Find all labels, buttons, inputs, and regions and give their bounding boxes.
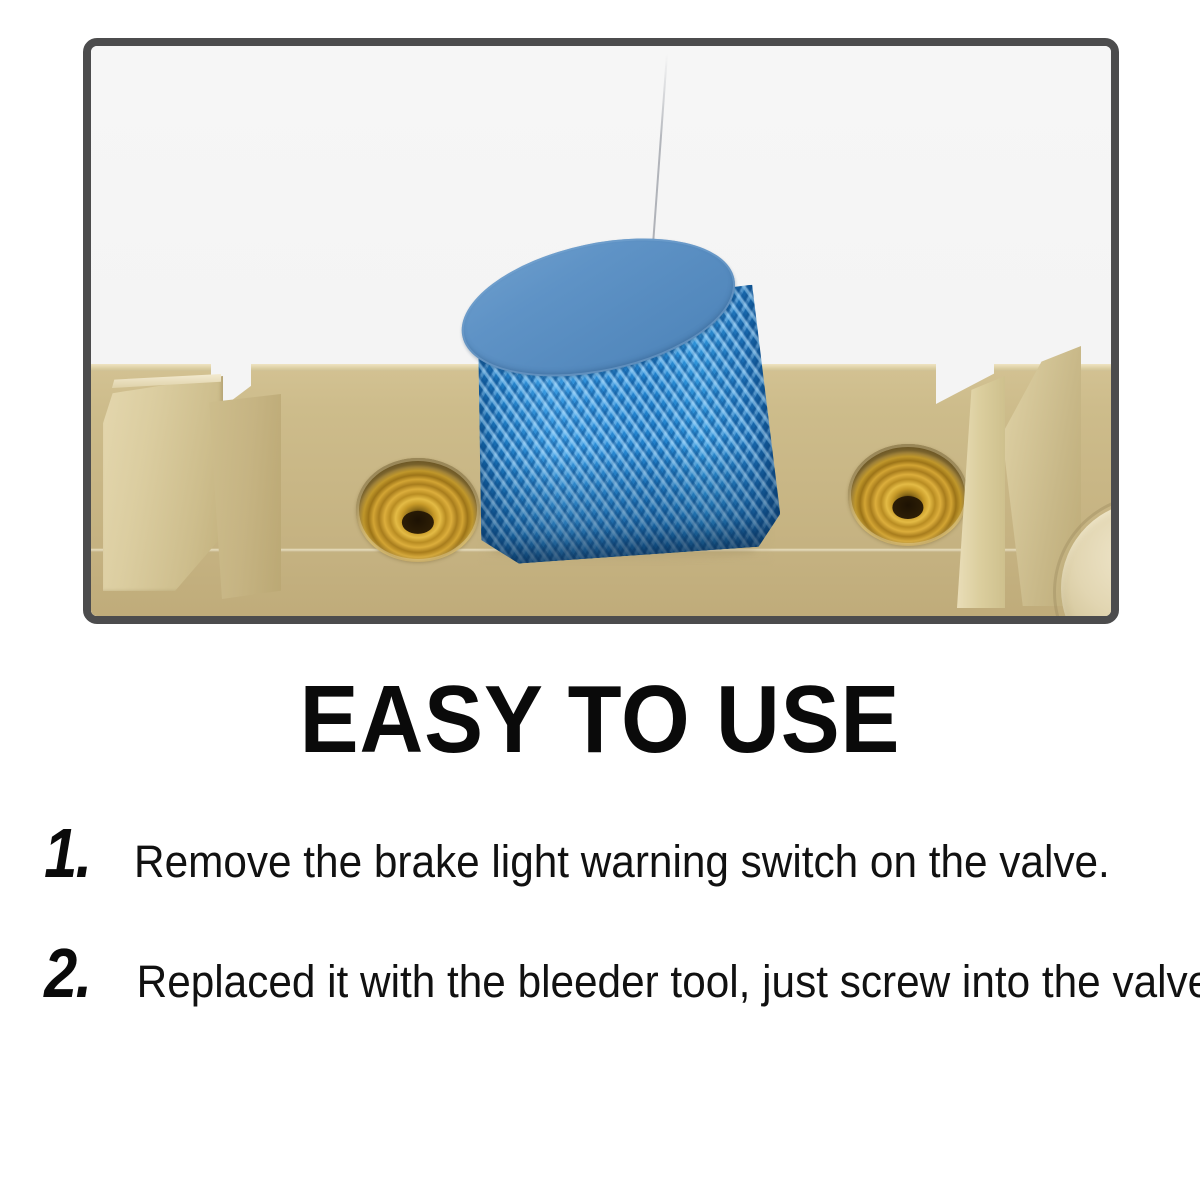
product-photo [91,46,1111,616]
blue-knurled-bleeder-knob [453,231,792,572]
step-number: 1. [44,818,90,888]
step-text: Replaced it with the bleeder tool, just … [137,957,1200,1007]
page-title: EASY TO USE [48,672,1152,768]
list-item: 1. Remove the brake light warning switch… [40,818,1170,888]
step-number: 2. [44,938,90,1008]
product-photo-frame [83,38,1119,624]
threaded-port-right-rim [848,444,968,546]
list-item: 2. Replaced it with the bleeder tool, ju… [40,938,1170,1008]
instruction-steps: 1. Remove the brake light warning switch… [40,818,1170,1058]
step-text: Remove the brake light warning switch on… [134,837,1138,887]
threaded-port-left-rim [356,458,480,562]
